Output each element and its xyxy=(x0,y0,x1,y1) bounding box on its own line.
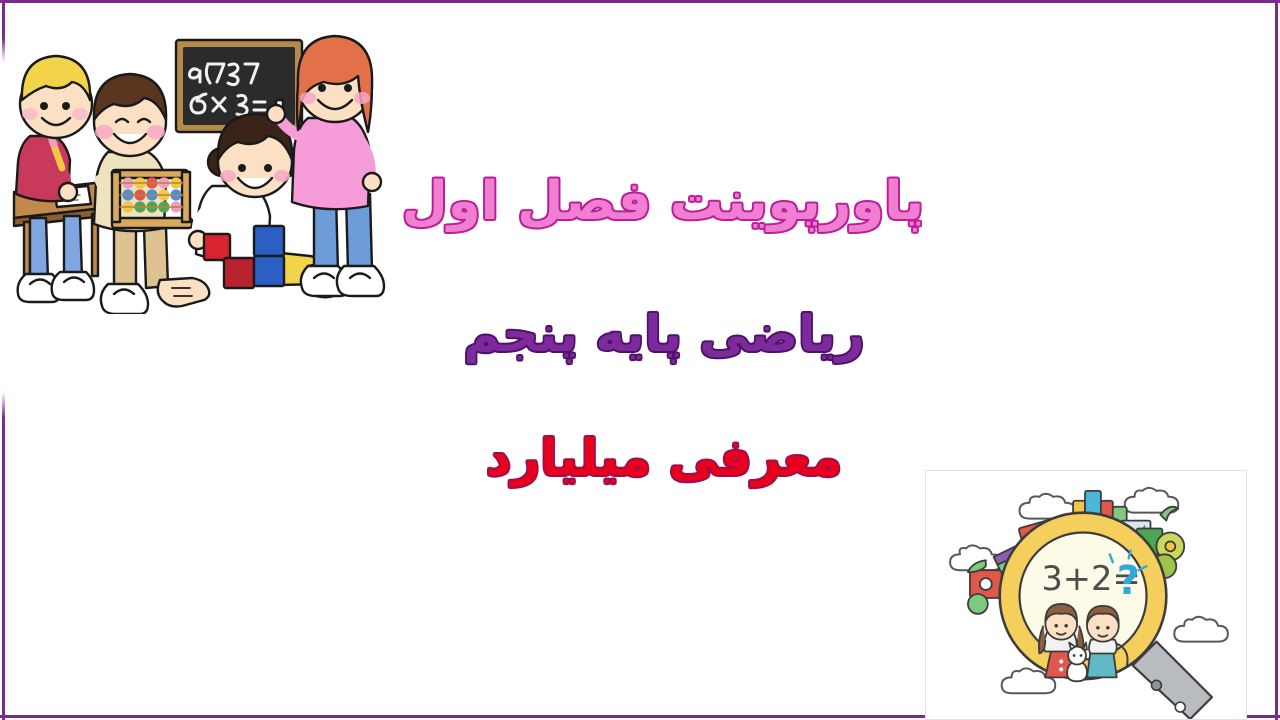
lens-question-mark: ? xyxy=(1117,558,1140,604)
title-line-topic: معرفی میلیارد xyxy=(404,432,924,485)
classroom-children-image xyxy=(8,22,404,314)
title-line-chapter: پاورپوینت فصل اول xyxy=(404,174,924,230)
toy-blocks xyxy=(204,226,284,288)
slide-title-block: پاورپوینت فصل اول ریاضی پایه پنجم معرفی … xyxy=(404,168,924,568)
title-line-subject-grade: ریاضی پایه پنجم xyxy=(404,308,924,361)
slide-border-right xyxy=(1275,0,1278,720)
slide-border-top xyxy=(0,0,1280,3)
magnifier-math-image: 3+2= ? xyxy=(925,470,1247,720)
slide-canvas: پاورپوینت فصل اول ریاضی پایه پنجم معرفی … xyxy=(0,0,1280,720)
slide-border-left xyxy=(2,0,5,720)
